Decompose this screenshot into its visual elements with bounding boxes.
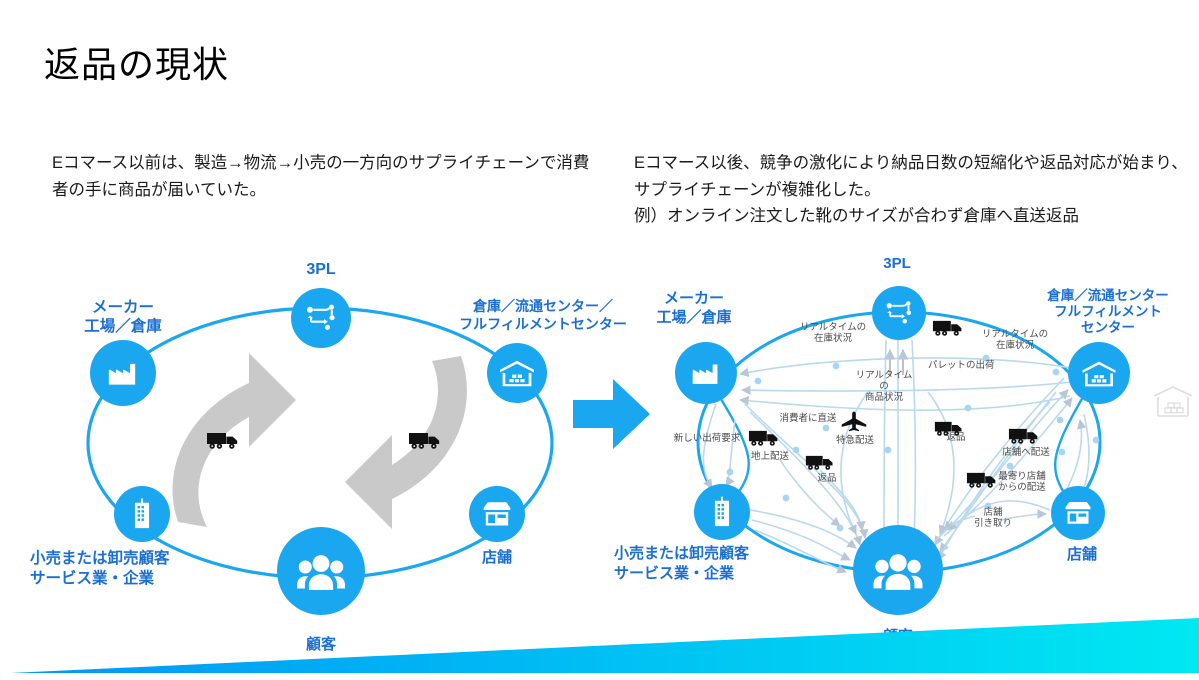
node-store[interactable]: 店舗 [469,486,525,566]
annotation-ground-delivery: 地上配送 [751,450,790,462]
node-3pl[interactable]: 3PL [872,255,926,340]
annotation-pallet-shipment: パレットの出荷 [928,359,995,371]
annotation-deliver-to-store: 店舗へ配送 [1002,446,1050,458]
node-label-retail-2: サービス業・企業 [614,564,735,582]
annotation-direct-to-consumer: 消費者に直送 [779,412,837,424]
annotation-returns-1: 返品 [817,472,836,484]
node-label-maker-2: 工場／倉庫 [656,308,731,326]
warehouse-outline-icon [1151,383,1195,421]
annotation-realtime-stock-2a: リアルタイムの [982,329,1048,340]
node-maker[interactable]: メーカー 工場／倉庫 [656,290,737,404]
annotation-realtime-stock-1a: リアルタイムの [800,322,866,333]
annotation-store-pickup-2: 引き取り [974,518,1012,529]
annotation-realtime-goods-3: 商品状況 [865,391,904,403]
annotation-realtime-goods-2: の [879,381,889,392]
node-label-3pl: 3PL [306,261,336,278]
truck-icon [933,321,961,336]
node-label-warehouse-1: 倉庫／流通センター／ [472,298,613,314]
node-store[interactable]: 店舗 [1051,486,1105,563]
node-label-retail-1: 小売または卸売顧客 [614,544,750,562]
node-label-warehouse-3: センター [1081,320,1135,335]
annotation-new-shipment-request: 新しい出荷要求 [674,432,741,444]
plane-icon [842,411,867,431]
node-retail[interactable]: 小売または卸売顧客 サービス業・企業 [614,484,750,582]
node-label-retail-1: 小売または卸売顧客 [30,548,170,567]
node-3pl[interactable]: 3PL [291,261,351,348]
annotation-store-pickup-1: 店舗 [983,506,1003,518]
left-truck-icons [207,433,439,449]
node-label-maker-1: メーカー [664,290,724,307]
node-label-store: 店舗 [482,548,512,566]
annotation-nearest-store-1: 最寄り店舗 [998,470,1046,482]
node-retail[interactable]: 小売または卸売顧客 サービス業・企業 [30,486,170,587]
node-label-retail-2: サービス業・企業 [30,568,155,587]
node-label-store: 店舗 [1067,545,1097,563]
node-label-warehouse-1: 倉庫／流通センター [1046,287,1169,303]
right-diagram: リアルタイムの 在庫状況 リアルタイムの 在庫状況 パレットの出荷 リアルタイム… [600,0,1199,675]
node-label-3pl: 3PL [883,255,911,272]
annotation-realtime-stock-1b: 在庫状況 [814,332,853,344]
annotation-express-delivery: 特急配送 [836,434,875,446]
annotation-realtime-stock-2b: 在庫状況 [996,339,1035,351]
annotation-realtime-goods-1: リアルタイム [856,370,913,381]
left-diagram: メーカー 工場／倉庫 3PL 倉庫／流通センター／ フルフィルメントセンター 店… [0,0,620,675]
node-label-warehouse-2: フルフィルメント [1054,304,1162,319]
corner-decoration [0,595,1199,675]
annotation-nearest-store-2: からの配送 [998,481,1046,493]
node-label-maker-2: 工場／倉庫 [84,316,162,335]
node-label-maker-1: メーカー [92,298,154,316]
slide-canvas: 返品の現状 Eコマース以前は、製造→物流→小売の一方向のサプライチェーンで消費者… [0,0,1199,675]
truck-icon [749,431,777,446]
truck-icon [806,456,833,470]
